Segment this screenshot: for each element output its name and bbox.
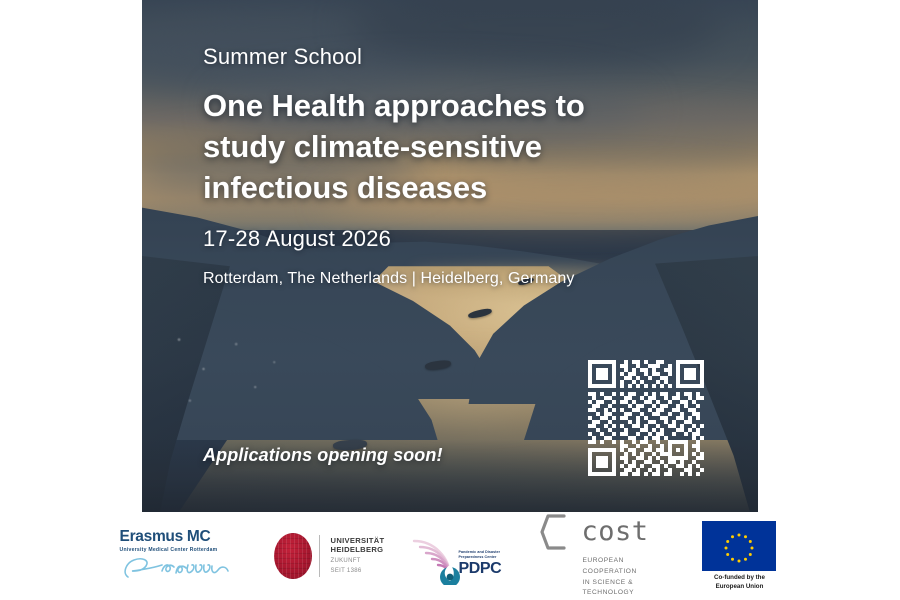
cost-wordmark: cost (581, 520, 648, 544)
event-locations: Rotterdam, The Netherlands | Heidelberg,… (203, 270, 683, 288)
cost-subtitle-line-1: EUROPEAN COOPERATION (582, 556, 672, 577)
eu-caption-line-1: Co-funded by the (714, 574, 765, 583)
eu-flag-icon (702, 521, 776, 571)
cost-subtitle-line-2: IN SCIENCE & TECHNOLOGY (582, 578, 672, 599)
partner-logo-bar: Erasmus MC University Medical Center Rot… (0, 512, 900, 600)
poster-canvas: Summer School One Health approaches to s… (0, 0, 900, 600)
eyebrow-label: Summer School (203, 44, 683, 70)
logo-erasmus-mc[interactable]: Erasmus MC University Medical Center Rot… (120, 529, 248, 583)
logo-pdpc[interactable]: Pandemic and Disaster Preparedness Cente… (410, 527, 514, 585)
logo-cost[interactable]: cost EUROPEAN COOPERATION IN SCIENCE & T… (540, 513, 672, 598)
headline-line-3: infectious diseases (203, 168, 683, 209)
pdpc-wordmark: Pandemic and Disaster Preparedness Cente… (458, 550, 501, 577)
eu-caption: Co-funded by the European Union (714, 574, 765, 592)
pdpc-acronym: PDPC (458, 561, 501, 577)
heidelberg-line-1: UNIVERSITÄT (331, 536, 385, 545)
heidelberg-wordmark: UNIVERSITÄT HEIDELBERG ZUKUNFT SEIT 1386 (327, 536, 385, 577)
erasmus-mc-wordmark: Erasmus MC (120, 529, 211, 545)
cost-hexagon-icon (540, 513, 574, 551)
hero-text-block: Summer School One Health approaches to s… (203, 44, 683, 288)
heidelberg-line-2: HEIDELBERG (331, 545, 385, 554)
page-title: One Health approaches to study climate-s… (203, 86, 683, 209)
heidelberg-line-4: SEIT 1386 (331, 568, 385, 576)
eu-stars-icon (714, 529, 764, 563)
heidelberg-seal-icon (274, 533, 312, 579)
event-dates: 17-28 August 2026 (203, 226, 683, 252)
erasmus-signature-icon (120, 551, 246, 583)
qr-code[interactable] (588, 360, 704, 476)
eu-caption-line-2: European Union (714, 583, 765, 592)
applications-status-text: Applications opening soon! (203, 445, 443, 466)
heidelberg-line-3: ZUKUNFT (331, 558, 385, 566)
divider (319, 535, 320, 577)
logo-universitaet-heidelberg[interactable]: UNIVERSITÄT HEIDELBERG ZUKUNFT SEIT 1386 (274, 533, 385, 579)
logo-eu-co-funded[interactable]: Co-funded by the European Union (698, 521, 780, 592)
headline-line-1: One Health approaches to (203, 86, 683, 127)
hero-photo-panel: Summer School One Health approaches to s… (142, 0, 758, 512)
headline-line-2: study climate-sensitive (203, 127, 683, 168)
